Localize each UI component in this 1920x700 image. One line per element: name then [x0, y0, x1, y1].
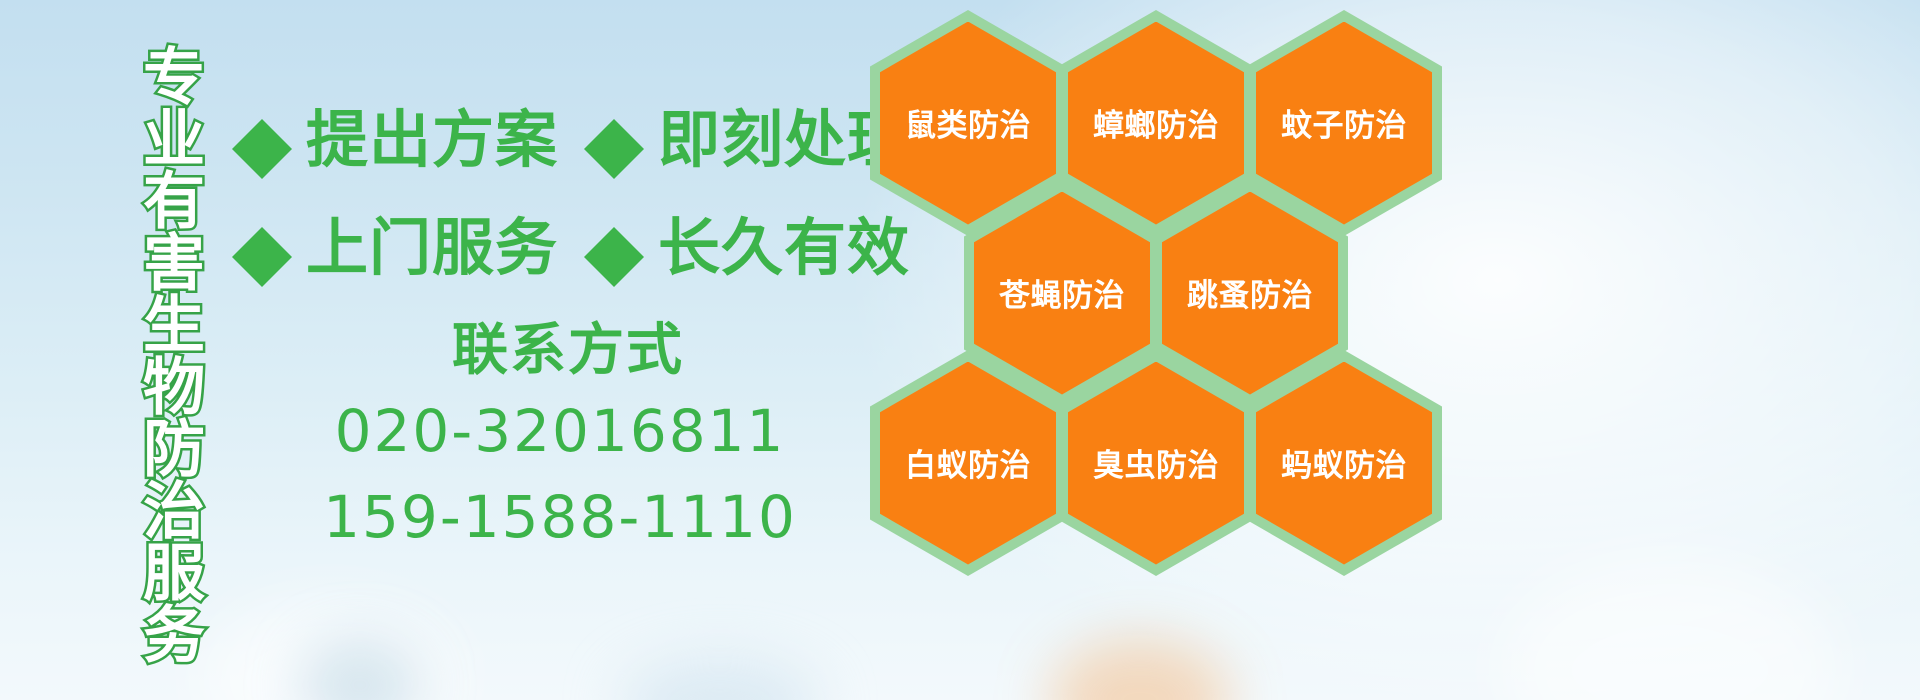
background-bokeh-blob [1500, 560, 1840, 700]
hex-inner-fill: 跳蚤防治 [1162, 192, 1338, 395]
background-bokeh-blob [620, 660, 820, 700]
phone-number-landline[interactable]: 020-32016811 [300, 394, 820, 468]
background-bokeh-blob [300, 640, 420, 700]
hex-inner-fill: 鼠类防治 [880, 22, 1056, 225]
hex-label: 鼠类防治 [905, 100, 1031, 145]
hex-label: 蚂蚁防治 [1281, 440, 1407, 485]
diamond-icon [584, 197, 644, 257]
hex-label: 跳蚤防治 [1187, 270, 1313, 315]
feature-row: 提出方案 即刻处理 [232, 80, 872, 188]
contact-block: 联系方式 020-32016811 159-1588-1110 [300, 320, 820, 554]
feature-item-onsite-service: 上门服务 [232, 197, 558, 287]
hex-inner-fill: 臭虫防治 [1068, 362, 1244, 565]
hex-inner-fill: 蚊子防治 [1256, 22, 1432, 225]
background-bokeh-blob [1050, 640, 1230, 700]
hex-label: 蚊子防治 [1281, 100, 1407, 145]
hex-label: 蟑螂防治 [1093, 100, 1219, 145]
diamond-icon [584, 89, 644, 149]
hex-label: 臭虫防治 [1093, 440, 1219, 485]
diamond-icon [232, 89, 292, 149]
feature-row: 上门服务 长久有效 [232, 188, 872, 296]
pest-control-banner: 专业有害生物防治服务 提出方案 即刻处理 上门服务 长久有效 [0, 0, 1920, 700]
hex-inner-fill: 蟑螂防治 [1068, 22, 1244, 225]
contact-title: 联系方式 [316, 320, 820, 382]
feature-list: 提出方案 即刻处理 上门服务 长久有效 [232, 80, 872, 296]
hex-label: 白蚁防治 [905, 440, 1031, 485]
feature-label: 提出方案 [306, 89, 558, 179]
service-honeycomb: 鼠类防治 蟑螂防治 蚊子防治 苍蝇防治 跳蚤防治 白蚁防治 [862, 0, 1462, 556]
hex-label: 苍蝇防治 [999, 270, 1125, 315]
hex-inner-fill: 蚂蚁防治 [1256, 362, 1432, 565]
hex-inner-fill: 苍蝇防治 [974, 192, 1150, 395]
vertical-headline: 专业有害生物防治服务 [108, 14, 200, 694]
hex-inner-fill: 白蚁防治 [880, 362, 1056, 565]
feature-item-propose-plan: 提出方案 [232, 89, 558, 179]
phone-number-mobile[interactable]: 159-1588-1110 [300, 480, 820, 554]
feature-label: 上门服务 [306, 197, 558, 287]
background-bokeh-blob [200, 600, 460, 700]
diamond-icon [232, 197, 292, 257]
